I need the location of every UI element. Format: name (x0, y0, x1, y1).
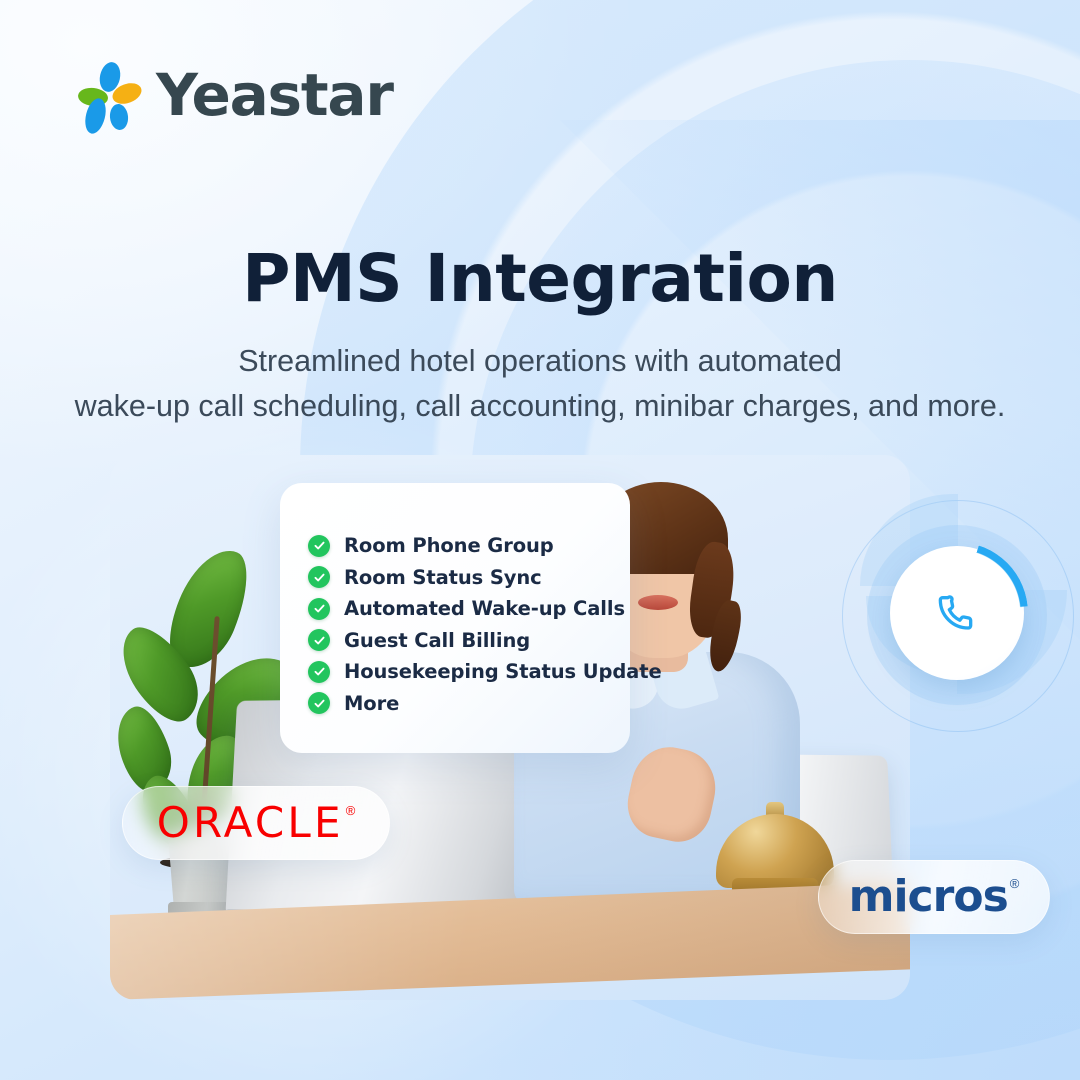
list-item[interactable]: More (308, 688, 648, 720)
micros-wordmark-icon: micros ® (849, 875, 1020, 919)
partner-name: ORACLE (157, 802, 344, 844)
list-item[interactable]: Room Phone Group (308, 530, 648, 562)
page-title: PMS Integration (0, 240, 1080, 317)
yeastar-pinwheel-logo-icon (78, 62, 140, 128)
subtitle-line-2: wake-up call scheduling, call accounting… (0, 384, 1080, 429)
feature-label: Room Status Sync (344, 566, 542, 589)
check-circle-icon (308, 535, 330, 557)
feature-label: Room Phone Group (344, 534, 554, 557)
check-circle-icon (308, 661, 330, 683)
brand-logo[interactable]: Yeastar (78, 62, 393, 128)
partner-badge-oracle[interactable]: ORACLE ® (122, 786, 390, 860)
check-circle-icon (308, 629, 330, 651)
page-subtitle: Streamlined hotel operations with automa… (0, 339, 1080, 429)
feature-label: More (344, 692, 399, 715)
list-item[interactable]: Housekeeping Status Update (308, 656, 648, 688)
feature-label: Housekeeping Status Update (344, 660, 662, 683)
partner-name: micros (849, 875, 1008, 919)
partner-badge-micros[interactable]: micros ® (818, 860, 1050, 934)
subtitle-line-1: Streamlined hotel operations with automa… (238, 344, 842, 378)
oracle-wordmark-icon: ORACLE ® (157, 802, 356, 844)
brand-name: Yeastar (156, 66, 393, 124)
check-circle-icon (308, 692, 330, 714)
feature-list: Room Phone Group Room Status Sync Automa… (308, 530, 648, 719)
feature-label: Guest Call Billing (344, 629, 530, 652)
check-circle-icon (308, 566, 330, 588)
list-item[interactable]: Guest Call Billing (308, 625, 648, 657)
check-circle-icon (308, 598, 330, 620)
registered-trademark-icon: ® (1010, 877, 1020, 890)
marketing-banner: Yeastar PMS Integration Streamlined hote… (0, 0, 1080, 1080)
call-badge[interactable] (842, 500, 1072, 730)
registered-trademark-icon: ® (346, 804, 356, 817)
list-item[interactable]: Automated Wake-up Calls (308, 593, 648, 625)
list-item[interactable]: Room Status Sync (308, 562, 648, 594)
feature-label: Automated Wake-up Calls (344, 597, 625, 620)
phone-handset-icon (930, 586, 984, 640)
